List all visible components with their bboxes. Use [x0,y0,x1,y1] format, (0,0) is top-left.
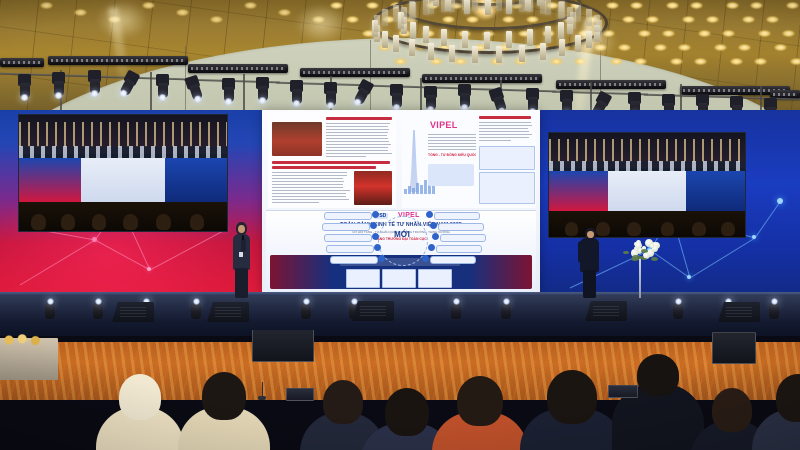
light-lens [326,102,335,109]
news-text-line [326,156,366,157]
name-card [286,388,314,401]
ceiling-downlight [176,9,189,16]
chandelier-pendant [586,9,592,26]
news-photo-top [272,122,322,156]
audience-head [202,372,246,420]
presenter-arm [578,241,584,263]
audience-head [637,354,679,396]
chandelier-pendant [464,0,470,14]
network-node [147,267,151,271]
ceiling-downlight [726,2,739,9]
news-text-line [272,196,346,197]
moving-head-light [458,84,471,110]
feed-left-screen [19,158,81,202]
audience-head [119,374,161,420]
chandelier-pendant [445,0,451,11]
audience-member [520,370,624,450]
news-text-line [326,141,389,142]
ceiling-downlight [742,16,755,23]
feed-right-screen [165,158,227,202]
light-lens [54,92,63,99]
news-text-line [272,193,346,194]
presenter-face [238,225,245,233]
feed-right-screen [686,171,745,211]
news-text-line [326,135,387,136]
presenter-legs [235,268,248,298]
right-text-line [479,128,528,129]
news-text-line [272,178,343,179]
led-bar-fixture [0,58,44,67]
chandelier-pendant [472,0,478,11]
moving-head-light [424,86,437,112]
news-text-line [272,184,343,185]
chandelier-pendant [545,26,551,43]
chandelier-pendant [485,0,491,15]
ceiling-downlight [690,2,703,9]
infographic-node [426,211,433,218]
presenter-right-man [576,228,604,298]
news-headline-2a [272,161,390,164]
news-text-line [272,199,349,200]
infographic-node [430,222,437,229]
stage-monitor [112,302,154,322]
truss-vertical [150,72,152,113]
name-card [608,385,638,398]
chandelier-pendant [374,15,380,32]
flower-arrangement-stage [620,236,660,298]
floor-light-lens [503,298,510,305]
ceiling-downlight [758,30,771,37]
audience-member [96,374,184,450]
light-lens [292,100,301,107]
vipel-logo-top: VIPEL [430,120,458,130]
infographic-pill [322,223,370,231]
floor-light-lens [95,298,102,305]
ceiling-downlight [682,16,695,23]
flower-leaf [631,257,638,261]
floor-light-lens [453,298,460,305]
microphone-neck [262,382,263,397]
feed-audience [19,202,227,231]
ceiling-downlight [244,2,257,9]
audience-member [432,376,528,450]
news-text-line [326,129,389,130]
infographic-node [422,255,429,262]
audience-member [178,372,270,450]
ceiling-downlight [722,30,735,37]
moving-head-light [351,78,375,107]
audience-head [712,388,752,432]
truss-pipe [92,76,188,81]
light-lens [20,94,29,101]
moving-head-light [324,82,337,108]
news-text-line [326,144,391,145]
ceiling-downlight [750,2,763,9]
network-node [687,275,691,279]
moving-head-light [52,72,65,98]
flower-leaf [623,251,628,254]
news-text-line [272,190,350,191]
ceiling-downlight [646,16,659,23]
ceiling-downlight [782,30,795,37]
chandelier-pendant [558,22,564,39]
infographic-center-word: MỚI [378,230,426,239]
infographic-node [372,211,379,218]
floor-light-lens [47,298,54,305]
ceiling-downlight [210,16,223,23]
feed-audience-head [627,222,641,236]
infographic-circle [378,216,428,266]
moving-head-light [256,77,269,103]
ceiling-downlight [622,16,635,23]
infographic-node [374,244,381,251]
news-text-line [272,172,347,173]
poster-news-block [268,112,396,208]
presenter-arm [241,238,246,252]
right-text-line [479,140,511,141]
chandelier-pendant [525,0,531,11]
moving-head-light [290,80,303,106]
feed-stage [549,171,745,211]
news-photo-right [354,171,392,205]
ceiling-downlight [666,2,679,9]
presenter-face [587,231,594,238]
network-node [92,237,97,242]
poster-right-block [476,112,536,208]
chandelier-pendant [429,0,435,1]
conference-stage-photograph: VIPEL TỔNG - TƯ ĐỒNG KIỂU QUỐC PSD VIPEL… [0,0,800,450]
infographic-pill [324,212,372,220]
moving-head-light [117,69,141,98]
news-text-line [326,123,390,124]
moving-head-light [390,84,403,110]
chandelier-pendant [423,26,429,43]
infographic-pill [330,256,378,264]
feed-audience-head [692,222,706,236]
feed-audience-head [156,214,171,230]
ceiling-glow [295,4,347,44]
floor-light-lens [303,298,310,305]
infographic-node [378,255,385,262]
ceiling-downlight [638,30,651,37]
news-text-line [272,181,344,182]
moving-head-light [88,70,101,96]
infographic-node [370,222,377,229]
infographic-pill [438,223,484,231]
infographic-pill [326,245,374,253]
flower-bloom [647,249,654,256]
stage-floor-light [672,298,684,320]
news-text-line [272,202,319,203]
ceiling-downlight [766,16,779,23]
ceiling-downlight [278,9,291,16]
truss-pipe [0,73,96,78]
stage-floor-light [450,298,462,320]
news-text-line [272,187,343,188]
led-bar-fixture [300,68,410,77]
stage-floor-light [92,298,104,320]
stage-floor-light [768,298,780,320]
infographic-node [432,233,439,240]
stage-floor-light [44,298,56,320]
ceiling-downlight [630,2,643,9]
floor-light-lens [771,298,778,305]
floor-light-lens [193,298,200,305]
network-node [777,198,783,204]
feed-stage [19,158,227,202]
circular-infographic: MỚI [322,210,482,272]
presenter-badge [239,252,243,257]
live-camera-feed-left [18,114,228,232]
stage-floor-light [190,298,202,320]
head-table-flowers [0,334,42,346]
feed-ceiling-lights [549,139,745,162]
chandelier-pendant [545,0,551,15]
news-text-line [326,147,388,148]
feed-audience-head [190,214,205,230]
infographic-node [372,233,379,240]
led-bar-fixture [48,56,188,65]
news-text-line [326,153,392,154]
ceiling-downlight [786,2,799,9]
presenter-legs [583,270,596,298]
feed-audience-head [123,214,138,230]
news-text-line [272,175,347,176]
flower-bloom [650,244,654,248]
news-text-line [326,150,388,151]
chandelier-pendant [558,2,564,19]
live-camera-feed-right [548,132,746,238]
led-bar-fixture [556,80,666,89]
truss-pipe [368,85,464,90]
flower-leaf [651,257,658,261]
feed-ceiling-lights [19,122,227,148]
infographic-pill [324,234,372,242]
audience-head [385,388,429,436]
right-text-line [479,137,529,138]
infographic-pill [436,245,482,253]
laptop-screen [252,330,314,362]
infographic-pill [430,256,476,264]
chandelier-pendant [410,2,416,19]
ceiling-downlight [698,30,711,37]
audience-head [547,370,597,424]
stage-monitor [352,301,394,321]
audience-member [752,374,800,450]
led-bar-fixture [422,74,542,83]
lighting-truss [0,44,800,120]
feed-poster [608,171,686,211]
network-node [752,235,756,239]
ceiling-downlight [142,2,155,9]
moving-head-light [156,74,169,100]
chandelier-pendant [567,7,573,24]
infographic-node [428,244,435,251]
chandelier-pendant [423,0,429,15]
flower-leaf [639,256,644,259]
center-poster-panel: VIPEL TỔNG - TƯ ĐỒNG KIỂU QUỐC PSD VIPEL… [262,110,540,292]
feed-audience-head [31,214,46,230]
right-block-card-2 [479,172,535,204]
chandelier-pendant [382,9,388,26]
moving-head-light [18,74,31,100]
right-block-header [479,116,531,119]
stage-floor-light [300,298,312,320]
light-lens [192,94,203,103]
chandelier-pendant [401,7,407,24]
chandelier-pendant [496,0,502,11]
ceiling-downlight [706,16,719,23]
chandelier-pendant [410,22,416,39]
floor-light-lens [351,298,358,305]
right-block-card [479,146,535,170]
stage-monitor [207,302,249,322]
laptop-screen [712,332,756,364]
infographic-pill [434,212,480,220]
floor-light-lens [675,298,682,305]
audience-head [776,374,800,422]
feed-left-screen [549,171,608,211]
news-headline-1 [326,117,392,120]
truss-pipe [460,88,556,93]
light-lens [258,97,267,104]
news-text-line [326,126,388,127]
ceiling-downlight [40,2,53,9]
right-text-line [479,134,532,135]
feed-audience-head [61,214,76,230]
ceiling-downlight [606,2,619,9]
light-lens [224,98,233,105]
light-lens [90,90,99,97]
ceiling-downlight [74,9,87,16]
infographic-pill [440,234,486,242]
chandelier-pendant [506,0,512,14]
audience-head [457,376,503,426]
right-text-line [479,131,529,132]
flower-stand [639,258,641,298]
feed-truss [19,146,227,158]
moving-head-light [222,78,235,104]
chandelier-pendant [537,0,543,6]
stage-monitor [718,302,760,322]
led-wall-left-panel [0,110,262,295]
presenter-left-woman [228,222,254,298]
feed-audience-head [92,214,107,230]
news-text-line [326,132,388,133]
audience-head [323,380,363,424]
feed-truss [549,161,745,171]
feed-audience-head [661,222,675,236]
led-bar-fixture [188,64,288,73]
right-text-line [479,125,532,126]
news-headline-2b [272,166,376,169]
poster-callout-left [428,164,474,186]
stage-floor-light [500,298,512,320]
light-lens [158,94,167,101]
ceiling-downlight [346,16,359,23]
table-microphone [258,382,272,400]
right-text-line [479,122,531,123]
feed-poster [81,158,164,202]
chandelier-pendant [519,0,525,12]
news-text-line [326,138,388,139]
chandelier-pendant [594,15,600,32]
feed-audience-head [721,222,735,236]
stage-monitor [585,301,627,321]
handheld-microphone [242,235,244,240]
ceiling-downlight [662,30,675,37]
audience-area [0,330,800,450]
